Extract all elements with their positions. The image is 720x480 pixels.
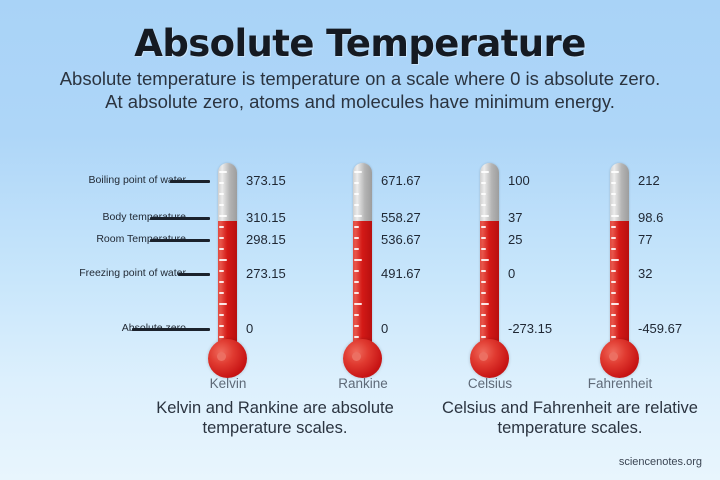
thermometer-bulb-highlight	[479, 352, 488, 361]
thermometer-kelvin: 373.15 310.15 298.15 273.15 0 Kelvin	[200, 163, 330, 398]
thermometer-fahrenheit: 212 98.6 77 32 -459.67 Fahrenheit	[592, 163, 720, 398]
value-kelvin-boiling: 373.15	[246, 173, 286, 188]
thermometer-bulb-highlight	[217, 352, 226, 361]
caption-absolute-scales: Kelvin and Rankine are absolute temperat…	[118, 398, 432, 438]
scale-name-celsius: Celsius	[444, 376, 536, 391]
value-kelvin-room: 298.15	[246, 232, 286, 247]
thermometer-bulb	[208, 339, 247, 378]
row-label-boiling-point: Boiling point of water	[14, 174, 186, 186]
scale-name-rankine: Rankine	[317, 376, 409, 391]
thermometer-bulb	[343, 339, 382, 378]
page-subtitle: Absolute temperature is temperature on a…	[50, 68, 670, 113]
thermometer-ticks	[353, 171, 372, 357]
row-label-freezing-point: Freezing point of water	[14, 267, 186, 279]
value-rankine-boiling: 671.67	[381, 173, 421, 188]
value-celsius-absolute-zero: -273.15	[508, 321, 552, 336]
thermometer-bulb	[470, 339, 509, 378]
value-rankine-body: 558.27	[381, 210, 421, 225]
source-credit: sciencenotes.org	[619, 456, 702, 468]
page-title: Absolute Temperature	[0, 22, 720, 65]
thermometer-rankine: 671.67 558.27 536.67 491.67 0 Rankine	[335, 163, 465, 398]
leader-line-absolute-zero	[132, 328, 210, 331]
value-celsius-body: 37	[508, 210, 522, 225]
value-fahrenheit-room: 77	[638, 232, 652, 247]
thermometer-bulb	[600, 339, 639, 378]
value-rankine-absolute-zero: 0	[381, 321, 388, 336]
thermometer-bulb-highlight	[352, 352, 361, 361]
scale-name-fahrenheit: Fahrenheit	[574, 376, 666, 391]
value-kelvin-freezing: 273.15	[246, 266, 286, 281]
thermometer-bulb-highlight	[609, 352, 618, 361]
value-celsius-freezing: 0	[508, 266, 515, 281]
value-kelvin-body: 310.15	[246, 210, 286, 225]
value-fahrenheit-absolute-zero: -459.67	[638, 321, 682, 336]
value-celsius-room: 25	[508, 232, 522, 247]
scale-name-kelvin: Kelvin	[182, 376, 274, 391]
value-rankine-freezing: 491.67	[381, 266, 421, 281]
thermometer-celsius: 100 37 25 0 -273.15 Celsius	[462, 163, 592, 398]
thermometer-ticks	[610, 171, 629, 357]
value-fahrenheit-body: 98.6	[638, 210, 663, 225]
caption-relative-scales: Celsius and Fahrenheit are relative temp…	[430, 398, 710, 438]
thermometer-ticks	[218, 171, 237, 357]
thermometer-ticks	[480, 171, 499, 357]
value-rankine-room: 536.67	[381, 232, 421, 247]
value-celsius-boiling: 100	[508, 173, 530, 188]
infographic-poster: Absolute Temperature Absolute temperatur…	[0, 0, 720, 480]
value-fahrenheit-boiling: 212	[638, 173, 660, 188]
value-kelvin-absolute-zero: 0	[246, 321, 253, 336]
value-fahrenheit-freezing: 32	[638, 266, 652, 281]
